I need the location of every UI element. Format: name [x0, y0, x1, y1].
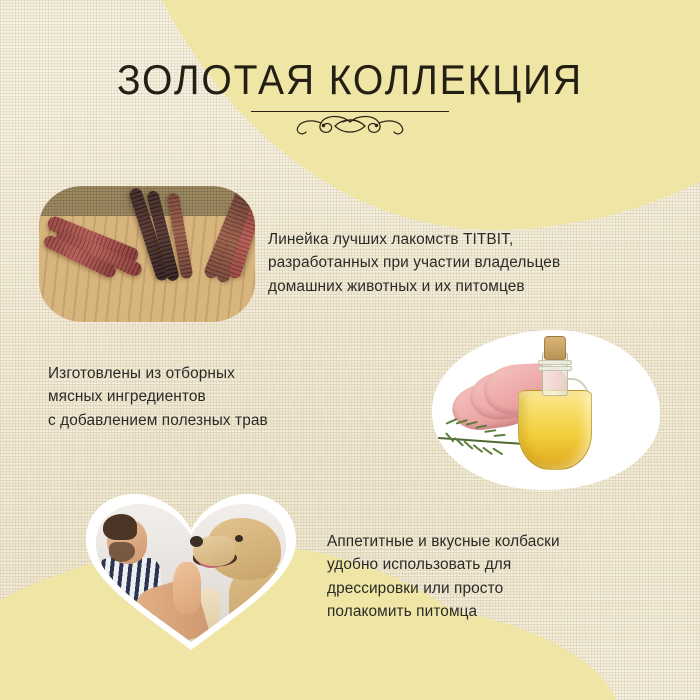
body-copy-2: Изготовлены из отборных мясных ингредиен…	[48, 362, 378, 432]
olive-oil-cruet-body	[518, 390, 592, 470]
scroll-flourish-icon	[245, 109, 455, 139]
cruet-cork-stopper	[544, 336, 566, 360]
photo-raw-meat-rosemary-olive-oil-cruet	[432, 330, 660, 490]
heart-photo-content	[89, 502, 293, 642]
dog-nose	[190, 536, 203, 547]
photo-man-high-fiving-dog-heart-frame	[78, 492, 304, 652]
man-hair	[103, 514, 137, 540]
poster-canvas: ЗОЛОТАЯ КОЛЛЕКЦИЯ Линейка	[0, 0, 700, 700]
title-block: ЗОЛОТАЯ КОЛЛЕКЦИЯ	[0, 58, 700, 139]
body-copy-1: Линейка лучших лакомств TITBIT, разработ…	[268, 228, 668, 298]
cruet-collar	[538, 366, 572, 371]
cruet-collar	[538, 360, 572, 365]
dog-eye	[235, 535, 243, 542]
photo-sausage-sticks-on-cutting-board	[39, 186, 255, 322]
body-copy-3: Аппетитные и вкусные колбаски удобно исп…	[327, 530, 677, 624]
page-title: ЗОЛОТАЯ КОЛЛЕКЦИЯ	[25, 58, 676, 102]
man-hand	[173, 562, 201, 614]
